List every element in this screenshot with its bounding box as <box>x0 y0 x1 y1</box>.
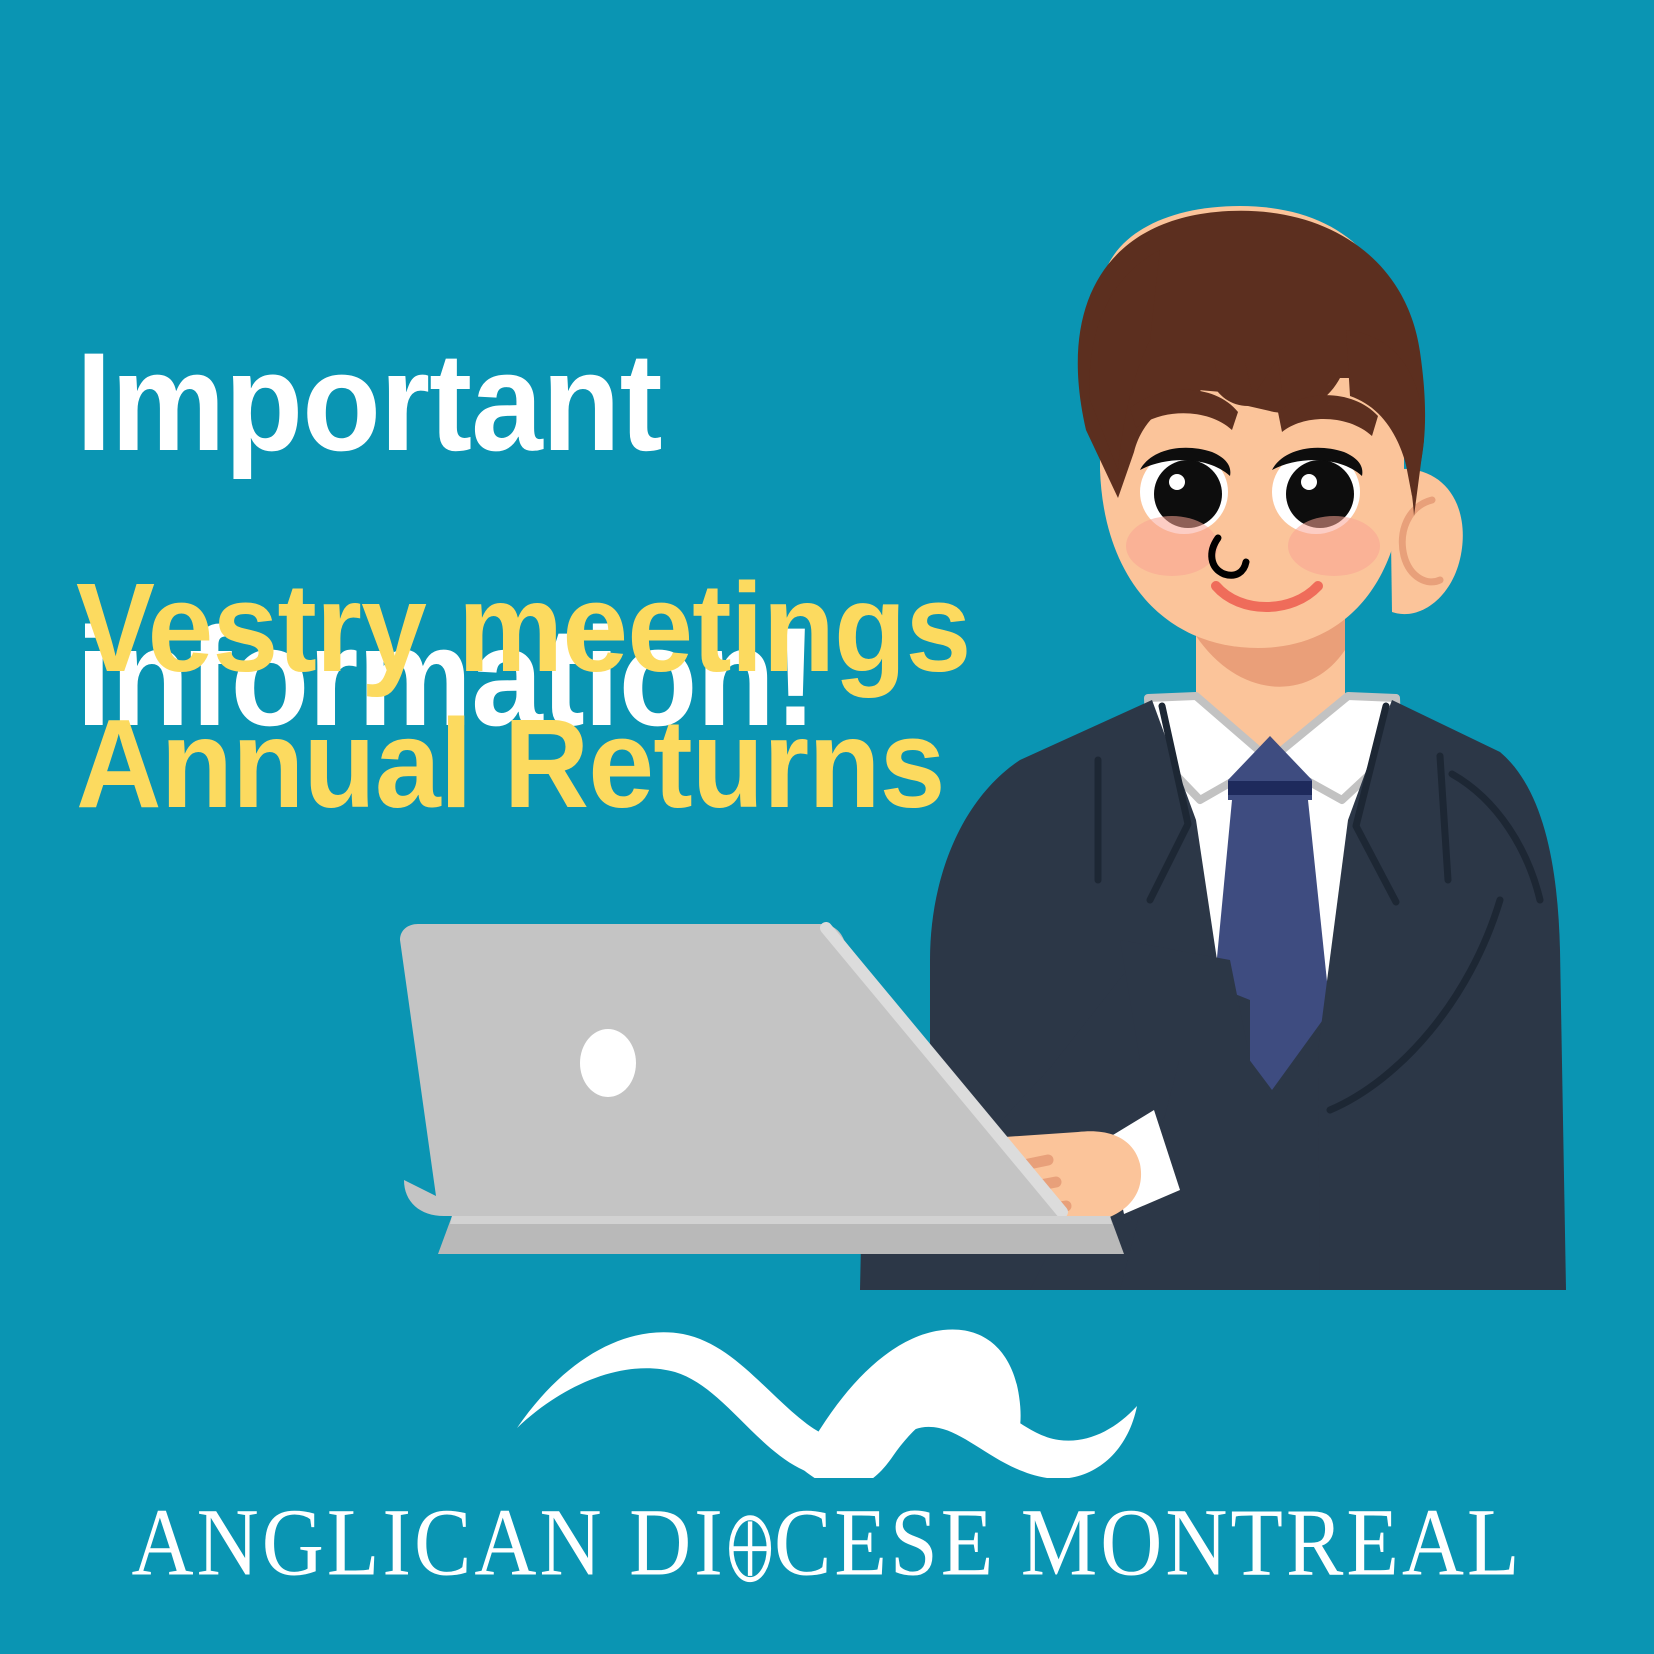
brand-wordmark-part-2: CESE MONTREAL <box>774 1488 1523 1596</box>
eye-left <box>1140 448 1230 534</box>
hand <box>920 1131 1141 1252</box>
head <box>1078 206 1463 648</box>
subhead: Vestry meetings Annual Returns <box>76 560 1072 832</box>
shirt <box>1140 696 1404 1070</box>
arm-right <box>860 940 1250 1290</box>
subhead-line-2: Annual Returns <box>76 696 1072 832</box>
cross-in-oval-icon <box>726 1514 774 1583</box>
brand-wordmark-part-1: ANGLICAN DI <box>132 1488 726 1596</box>
brand-logo <box>0 1288 1654 1483</box>
wave-bird-mark-icon <box>507 1288 1147 1478</box>
necktie <box>1212 736 1330 1090</box>
suit-body <box>1000 735 1560 1290</box>
brand-wordmark: ANGLICAN DICESE MONTREAL <box>0 1486 1654 1598</box>
subhead-line-1: Vestry meetings <box>76 560 1072 696</box>
laptop <box>400 924 1124 1254</box>
eye-right <box>1272 448 1362 534</box>
poster-canvas: Important information! Vestry meetings A… <box>0 0 1654 1654</box>
neck <box>1196 595 1345 778</box>
headline-line-1: Important <box>76 333 996 470</box>
